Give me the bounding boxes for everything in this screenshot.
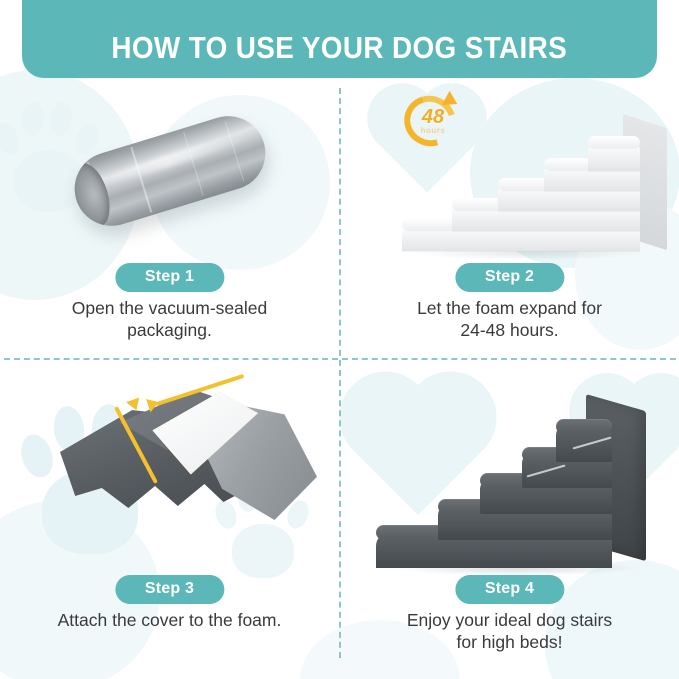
step-card-3: Step 3 Attach the cover to the foam. xyxy=(0,360,339,679)
step-card-2: 48 hours Step 2 Let the foam expand for … xyxy=(340,86,679,358)
horizontal-divider xyxy=(4,358,676,360)
vertical-divider xyxy=(339,88,341,658)
step-caption-1: Open the vacuum-sealed packaging. xyxy=(20,297,320,341)
page-title: HOW TO USE YOUR DOG STAIRS xyxy=(112,30,568,66)
step-badge-4: Step 4 xyxy=(455,575,564,604)
step-card-1: Step 1 Open the vacuum-sealed packaging. xyxy=(0,86,339,358)
caption-line: 24-48 hours. xyxy=(360,319,660,341)
48-hours-timer-icon: 48 hours xyxy=(398,88,472,150)
step-caption-4: Enjoy your ideal dog stairs for high bed… xyxy=(360,609,660,653)
infographic-root: HOW TO USE YOUR DOG STAIRS Step 1 Open t… xyxy=(0,0,679,679)
step-card-4: Step 4 Enjoy your ideal dog stairs for h… xyxy=(340,360,679,679)
caption-line: Enjoy your ideal dog stairs xyxy=(360,609,660,631)
header-banner: HOW TO USE YOUR DOG STAIRS xyxy=(22,0,657,78)
caption-line: for high beds! xyxy=(360,631,660,653)
caption-line: packaging. xyxy=(20,319,320,341)
step-caption-3: Attach the cover to the foam. xyxy=(20,609,320,631)
caption-line: Attach the cover to the foam. xyxy=(20,609,320,631)
step-badge-1: Step 1 xyxy=(115,263,224,292)
timer-unit: hours xyxy=(406,126,460,135)
step-badge-2: Step 2 xyxy=(455,263,564,292)
step-caption-2: Let the foam expand for 24-48 hours. xyxy=(360,297,660,341)
caption-line: Open the vacuum-sealed xyxy=(20,297,320,319)
step-badge-3: Step 3 xyxy=(115,575,224,604)
caption-line: Let the foam expand for xyxy=(360,297,660,319)
